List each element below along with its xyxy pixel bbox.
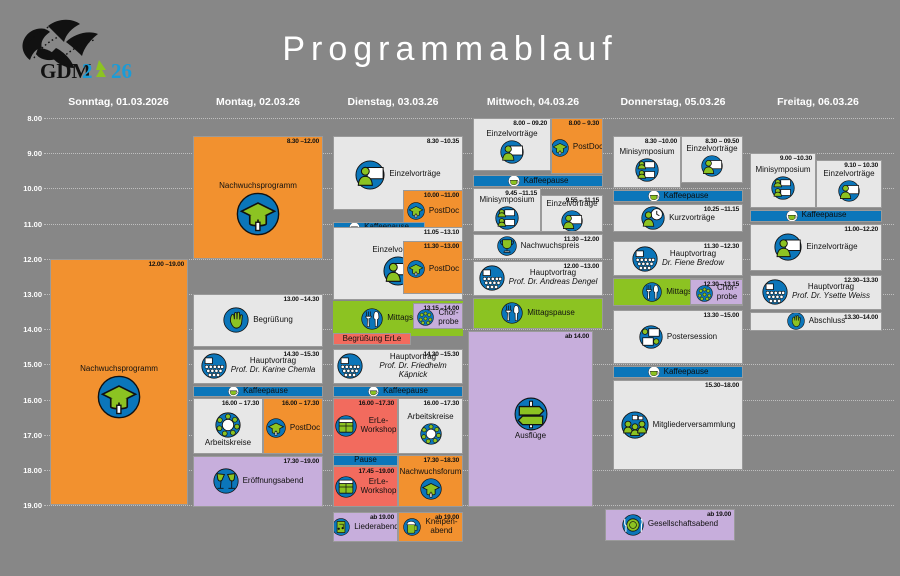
roundtable-icon <box>420 423 442 445</box>
session-label-box: Kneipen-abend <box>425 518 457 536</box>
session-label: Postersession <box>667 333 717 342</box>
session-block-mon-begruessung[interactable]: 13.00 –14.30 Begrüßung <box>193 294 323 347</box>
session-block-thu-mitglieder[interactable]: 15.30–18.00 Mitgliederversammlung <box>613 380 743 470</box>
session-label-box: ErLe-Workshop <box>361 478 397 496</box>
session-label-box: Nachwuchsprogramm <box>219 182 297 191</box>
session-label: Pause <box>354 456 377 465</box>
session-label-line2: probe <box>438 318 458 327</box>
session-content: Nachwuchsforum <box>399 456 462 506</box>
session-content: Kaffeepause <box>614 367 742 377</box>
beer-icon <box>403 518 421 536</box>
session-label-box: PostDoc <box>290 424 320 433</box>
session-label: Minisymposium <box>619 148 674 157</box>
choir-icon <box>417 309 434 326</box>
session-block-mon-ak[interactable]: 16.00 – 17.30 Arbeitskreise <box>193 398 263 454</box>
minisymposium-icon <box>771 176 795 200</box>
session-content: PostDoc <box>264 399 322 453</box>
audience-icon <box>762 279 788 305</box>
session-label: Minisymposium <box>479 196 534 205</box>
graduation-cap-icon <box>407 202 425 220</box>
session-label-box: Einzelvorträge <box>686 145 737 154</box>
session-label-box: Kurzvorträge <box>669 214 715 223</box>
session-label-box: ErLe-Workshop <box>361 417 397 435</box>
session-label: Eröffnungsabend <box>243 477 304 486</box>
session-content: Kaffeepause <box>194 387 322 396</box>
audience-icon <box>337 353 363 379</box>
session-block-tue-lieder[interactable]: ab 19.00 Liederabend <box>333 512 398 542</box>
session-label-box: Einzelvorträge <box>546 200 597 209</box>
session-label-box: Einzelvorträge <box>823 170 874 179</box>
session-label-box: Postersession <box>667 333 717 342</box>
session-label-box: Kaffeepause <box>243 387 288 396</box>
dinner-plate-icon <box>622 514 644 536</box>
roundtable-icon <box>215 412 241 438</box>
graduation-cap-icon <box>97 375 141 419</box>
speaker-screen-icon <box>561 210 583 232</box>
session-label-box: Kaffeepause <box>383 387 428 396</box>
session-label-box: Minisymposium <box>479 196 534 205</box>
speaker-screen-icon <box>355 160 385 190</box>
speaker-screen-icon <box>838 180 860 202</box>
graduation-cap-icon <box>236 192 280 236</box>
speaker-screen-icon <box>774 233 802 261</box>
session-label: Einzelvorträge <box>806 243 857 252</box>
session-block-fri-einzel1[interactable]: 9.10 – 10.30Einzelvorträge <box>816 160 882 208</box>
coffee-cup-icon <box>786 210 798 222</box>
session-label: Kaffeepause <box>243 387 288 396</box>
day-header-3: Dienstag, 03.03.26 <box>323 96 463 108</box>
coffee-cup-icon <box>786 210 798 222</box>
session-block-thu-haupt[interactable]: 11.30 –12.30 HauptvortragDr. Fiene Bredo… <box>613 241 743 276</box>
audience-icon <box>201 353 227 379</box>
session-block-mon-postdoc[interactable]: 16.00 – 17.30 PostDoc <box>263 398 323 454</box>
poster-icon <box>639 325 663 349</box>
session-label: Gesellschaftsabend <box>648 520 718 529</box>
assembly-icon <box>621 411 649 439</box>
session-label-box: Ausflüge <box>515 432 546 441</box>
time-label-19-00: 19.00 <box>8 501 42 510</box>
audience-icon <box>632 246 658 272</box>
coffee-cup-icon <box>648 190 660 202</box>
session-content: Chor-probe <box>691 280 742 303</box>
coffee-cup-icon <box>648 366 660 378</box>
cutlery-icon <box>361 308 383 330</box>
session-label: Einzelvorträge <box>823 170 874 179</box>
minisymposium-icon <box>635 158 659 182</box>
day-header-4: Mittwoch, 04.03.26 <box>463 96 603 108</box>
session-label: Kaffeepause <box>524 177 569 186</box>
dinner-plate-icon <box>622 514 644 536</box>
session-label-box: Abschluss <box>809 317 845 326</box>
clock-person-icon <box>641 206 665 230</box>
audience-icon <box>201 353 227 379</box>
session-speaker: Prof. Dr. Karine Chemla <box>231 366 316 375</box>
session-label: Einzelvorträge <box>486 130 537 139</box>
speaker-screen-icon <box>701 155 723 177</box>
session-label-box: Nachwuchspreis <box>521 242 580 251</box>
session-label: Kaffeepause <box>383 387 428 396</box>
session-label-box: HauptvortragProf. Dr. Andreas Dengel <box>509 269 598 287</box>
choir-icon <box>417 309 434 326</box>
session-content: Kaffeepause <box>614 191 742 201</box>
signpost-icon <box>514 397 548 431</box>
choir-icon <box>696 285 713 302</box>
poster-icon <box>639 325 663 349</box>
roundtable-icon <box>215 412 241 438</box>
session-block-mon-nachwuchs[interactable]: 8.30 –12.00Nachwuchsprogramm <box>193 136 323 259</box>
session-content: HauptvortragDr. Fiene Bredow <box>614 242 742 275</box>
day-header-1: Sonntag, 01.03.2026 <box>44 96 193 108</box>
session-block-tue-haupt[interactable]: 14.30 –15.30 HauptvortragProf. Dr. Fried… <box>333 349 463 384</box>
session-label: Nachwuchsprogramm <box>80 365 158 374</box>
minisymposium-icon <box>771 176 795 200</box>
session-content: Einzelvorträge <box>542 196 602 231</box>
time-label-12-00: 12.00 <box>8 255 42 264</box>
session-content: Minisymposium <box>614 137 680 188</box>
cutlery-icon <box>501 302 523 324</box>
session-label-box: Einzelvorträge <box>486 130 537 139</box>
time-label-9-00: 9.00 <box>8 149 42 158</box>
time-label-18-00: 18.00 <box>8 466 42 475</box>
time-label-17-00: 17.00 <box>8 431 42 440</box>
workshop-icon <box>335 476 357 498</box>
speaker-screen-icon <box>355 160 385 190</box>
audience-icon <box>479 265 505 291</box>
session-content: Einzelvorträge <box>817 161 881 207</box>
coffee-cup-icon <box>368 386 379 397</box>
session-block-mon-kaffee[interactable]: Kaffeepause <box>193 386 323 397</box>
session-content: Minisymposium <box>474 189 540 232</box>
session-label: Einzelvorträge <box>686 145 737 154</box>
session-block-tue-postdoc2[interactable]: 11.30 –13.00 PostDoc <box>403 241 463 294</box>
songbook-icon <box>333 518 350 536</box>
session-speaker: Prof. Dr. Ysette Weiss <box>792 292 870 301</box>
session-block-wed-haupt[interactable]: 12.00 –13.00 HauptvortragProf. Dr. Andre… <box>473 261 603 296</box>
session-label: PostDoc <box>573 143 603 152</box>
time-label-10-00: 10.00 <box>8 184 42 193</box>
session-block-thu-mini[interactable]: 8.30 –10.00Minisymposium <box>613 136 681 189</box>
graduation-cap-icon <box>551 139 569 157</box>
session-label-box: Chor-probe <box>438 309 458 327</box>
session-block-wed-einzel1[interactable]: 8.00 – 09.20Einzelvorträge <box>473 118 551 171</box>
coffee-cup-icon <box>368 386 379 397</box>
assembly-icon <box>621 411 649 439</box>
audience-icon <box>337 353 363 379</box>
trophy-icon <box>497 236 517 256</box>
session-label-box: Kaffeepause <box>664 368 709 377</box>
signpost-icon <box>514 397 548 431</box>
time-label-8-00: 8.00 <box>8 114 42 123</box>
session-label-line2: probe <box>717 293 737 302</box>
session-speaker: Prof. Dr. Andreas Dengel <box>509 278 598 287</box>
session-label-box: Mittagspause <box>527 309 575 318</box>
session-content: Kneipen-abend <box>399 513 462 541</box>
session-content: Liederabend <box>334 513 397 541</box>
session-label: Einzelvorträge <box>389 170 440 179</box>
graduation-cap-icon <box>236 192 280 236</box>
cutlery-icon <box>642 282 662 302</box>
session-content: Nachwuchspreis <box>474 235 602 258</box>
coffee-cup-icon <box>508 175 520 187</box>
songbook-icon <box>333 518 350 536</box>
session-content: Minisymposium <box>751 154 815 207</box>
session-label: Minisymposium <box>755 166 810 175</box>
session-content: Arbeitskreise <box>194 399 262 453</box>
session-content: HauptvortragProf. Dr. Friedhelm Käpnick <box>334 350 462 383</box>
session-block-mon-eroeffnung[interactable]: 17.30 –19.00 Eröffnungsabend <box>193 456 323 507</box>
session-label: Begrüßung ErLe <box>343 335 402 344</box>
session-block-fri-kaffee[interactable]: Kaffeepause <box>750 210 882 222</box>
graduation-cap-icon <box>420 478 442 500</box>
time-label-14-00: 14.00 <box>8 325 42 334</box>
session-label: Abschluss <box>809 317 845 326</box>
session-label: Kaffeepause <box>802 211 847 220</box>
session-block-tue-kaffee2[interactable]: Kaffeepause <box>333 386 463 397</box>
waving-hand-icon <box>223 307 249 333</box>
session-content: ErLe-Workshop <box>334 467 397 505</box>
session-label-box: Nachwuchsprogramm <box>80 365 158 374</box>
clock-person-icon <box>641 206 665 230</box>
session-label-box: HauptvortragProf. Dr. Ysette Weiss <box>792 283 870 301</box>
coffee-cup-icon <box>228 386 239 397</box>
session-label: PostDoc <box>429 265 459 274</box>
session-block-tue-pause[interactable]: Pause <box>333 455 398 466</box>
session-label: Begrüßung <box>253 316 293 325</box>
session-label-box: Arbeitskreise <box>407 413 453 422</box>
session-label: Nachwuchsforum <box>400 468 462 477</box>
session-content: Postersession <box>614 311 742 364</box>
session-content: Abschluss <box>751 313 881 330</box>
session-block-fri-abschluss[interactable]: 13.30–14.00 Abschluss <box>750 312 882 331</box>
coffee-cup-icon <box>648 366 660 378</box>
coffee-cup-icon <box>228 386 239 397</box>
session-block-wed-mini[interactable]: 9.45 –11.15Minisymposium <box>473 188 541 233</box>
graduation-cap-icon <box>420 478 442 500</box>
session-block-tue-erlews2[interactable]: 17.45 –19.00 ErLe-Workshop <box>333 466 398 506</box>
schedule-grid: 8.009.0010.0011.0012.0013.0014.0015.0016… <box>0 112 900 532</box>
session-block-wed-preis[interactable]: 11.30 –12.00 Nachwuchspreis <box>473 234 603 259</box>
day-header-6: Freitag, 06.03.26 <box>743 96 893 108</box>
session-content: Kaffeepause <box>334 387 462 396</box>
day-header-5: Donnerstag, 05.03.26 <box>603 96 743 108</box>
session-content: Nachwuchsprogramm <box>194 137 322 258</box>
time-label-13-00: 13.00 <box>8 290 42 299</box>
session-content: Kaffeepause <box>751 211 881 221</box>
session-content: Einzelvorträge <box>682 137 742 183</box>
session-content: PostDoc <box>404 242 462 293</box>
session-block-fri-haupt[interactable]: 12.30–13.30 HauptvortragProf. Dr. Ysette… <box>750 275 882 310</box>
session-block-sun-nachwuchs[interactable]: 12.00 –19.00Nachwuchsprogramm <box>50 259 188 505</box>
session-label-box: Begrüßung ErLe <box>343 335 402 344</box>
graduation-cap-icon <box>266 418 286 438</box>
waving-hand-icon <box>787 312 805 330</box>
session-label-line2: abend <box>425 527 457 536</box>
time-label-16-00: 16.00 <box>8 396 42 405</box>
waving-hand-icon <box>223 307 249 333</box>
session-label-box: HauptvortragDr. Fiene Bredow <box>662 250 724 268</box>
session-label-box: Pause <box>354 456 377 465</box>
session-content: Eröffnungsabend <box>194 457 322 506</box>
session-content: Mittagspause <box>474 299 602 329</box>
choir-icon <box>696 285 713 302</box>
session-content: ErLe-Workshop <box>334 399 397 453</box>
session-content: Chor-probe <box>414 304 462 328</box>
time-label-15-00: 15.00 <box>8 360 42 369</box>
graduation-cap-icon <box>407 260 425 278</box>
session-block-fri-einzel2[interactable]: 11.00–12.20 Einzelvorträge <box>750 224 882 272</box>
session-block-wed-einzel2[interactable]: 9.55 – 11.15Einzelvorträge <box>541 195 603 232</box>
beer-icon <box>403 518 421 536</box>
session-label: Nachwuchspreis <box>521 242 580 251</box>
session-label: Ausflüge <box>515 432 546 441</box>
roundtable-icon <box>420 423 442 445</box>
session-content: Kaffeepause <box>474 176 602 186</box>
session-content: Begrüßung <box>194 295 322 346</box>
session-label: PostDoc <box>290 424 320 433</box>
session-block-thu-poster[interactable]: 13.30 –15.00 Postersession <box>613 310 743 365</box>
page-title: Programmablauf <box>0 30 900 69</box>
session-block-thu-kurz[interactable]: 10.25 –11.15 Kurzvorträge <box>613 204 743 232</box>
trophy-icon <box>497 236 517 256</box>
workshop-icon <box>335 476 357 498</box>
session-content: Nachwuchsprogramm <box>51 260 187 504</box>
session-block-mon-haupt[interactable]: 14.30 –15.30 HauptvortragProf. Dr. Karin… <box>193 349 323 384</box>
session-label: Mitgliederversammlung <box>653 421 736 430</box>
session-label-box: Einzelvorträge <box>806 243 857 252</box>
minisymposium-icon <box>495 206 519 230</box>
session-block-thu-gesellschaft[interactable]: ab 19.00 Gesellschaftsabend <box>605 509 735 541</box>
speaker-screen-icon <box>500 140 524 164</box>
session-label-box: Einzelvorträge <box>389 170 440 179</box>
session-label-box: Kaffeepause <box>524 177 569 186</box>
session-block-thu-kaffee1[interactable]: Kaffeepause <box>613 190 743 202</box>
speaker-screen-icon <box>838 180 860 202</box>
session-label-box: HauptvortragProf. Dr. Karine Chemla <box>231 357 316 375</box>
session-label-box: Arbeitskreise <box>205 439 251 448</box>
session-label: Kurzvorträge <box>669 214 715 223</box>
session-label: Arbeitskreise <box>205 439 251 448</box>
session-label: Kaffeepause <box>664 192 709 201</box>
session-label-box: Minisymposium <box>619 148 674 157</box>
cutlery-icon <box>361 308 383 330</box>
graduation-cap-icon <box>407 260 425 278</box>
workshop-icon <box>335 415 357 437</box>
graduation-cap-icon <box>266 418 286 438</box>
coffee-cup-icon <box>648 190 660 202</box>
session-label-box: PostDoc <box>429 265 459 274</box>
session-label: PostDoc <box>429 207 459 216</box>
session-speaker: Prof. Dr. Friedhelm Käpnick <box>367 362 459 380</box>
session-content: Gesellschaftsabend <box>606 510 734 540</box>
session-content: Arbeitskreise <box>399 399 462 453</box>
session-content: Einzelvorträge <box>474 119 550 170</box>
session-block-wed-mittag[interactable]: Mittagspause <box>473 298 603 330</box>
waving-hand-icon <box>787 312 805 330</box>
graduation-cap-icon <box>97 375 141 419</box>
session-content: HauptvortragProf. Dr. Karine Chemla <box>194 350 322 383</box>
session-label-box: PostDoc <box>429 207 459 216</box>
day-header-row: Sonntag, 01.03.2026Montag, 02.03.26Diens… <box>0 96 900 112</box>
session-label-box: Liederabend <box>354 523 398 532</box>
session-label: Kaffeepause <box>664 368 709 377</box>
session-block-thu-chor[interactable]: 12.30 –13.15 Chor-probe <box>690 279 743 304</box>
session-label-box: HauptvortragProf. Dr. Friedhelm Käpnick <box>367 353 459 380</box>
speaker-screen-icon <box>701 155 723 177</box>
audience-icon <box>632 246 658 272</box>
session-content: HauptvortragProf. Dr. Andreas Dengel <box>474 262 602 295</box>
graduation-cap-icon <box>407 202 425 220</box>
session-label-box: Begrüßung <box>253 316 293 325</box>
session-content: HauptvortragProf. Dr. Ysette Weiss <box>751 276 881 309</box>
session-label-box: Minisymposium <box>755 166 810 175</box>
time-label-11-00: 11.00 <box>8 220 42 229</box>
session-block-tue-nachwuchsforum[interactable]: 17.30 –18.30Nachwuchsforum <box>398 455 463 507</box>
graduation-cap-icon <box>551 139 569 157</box>
session-label: Arbeitskreise <box>407 413 453 422</box>
session-label: Liederabend <box>354 523 398 532</box>
session-block-wed-postdoc[interactable]: 8.00 – 9.30 PostDoc <box>551 118 603 174</box>
day-header-2: Montag, 02.03.26 <box>193 96 323 108</box>
session-content: Kurzvorträge <box>614 205 742 231</box>
session-label-box: Chor-probe <box>717 284 737 302</box>
session-label: Einzelvorträge <box>546 200 597 209</box>
session-block-tue-chor[interactable]: 13.15 –14.00 Chor-probe <box>413 303 463 329</box>
session-label-box: Gesellschaftsabend <box>648 520 718 529</box>
session-label-box: Mitgliederversammlung <box>653 421 736 430</box>
cutlery-icon <box>501 302 523 324</box>
session-label: Nachwuchsprogramm <box>219 182 297 191</box>
minisymposium-icon <box>635 158 659 182</box>
session-block-tue-erlews1[interactable]: 16.00 –17.30 ErLe-Workshop <box>333 398 398 454</box>
session-label-box: Nachwuchsforum <box>400 468 462 477</box>
session-block-wed-kaffee[interactable]: Kaffeepause <box>473 175 603 187</box>
workshop-icon <box>335 415 357 437</box>
session-content: Pause <box>334 456 397 465</box>
cheers-glasses-icon <box>213 468 239 494</box>
session-label: Mittagspause <box>527 309 575 318</box>
speaker-screen-icon <box>774 233 802 261</box>
speaker-screen-icon <box>500 140 524 164</box>
session-content: Einzelvorträge <box>751 225 881 271</box>
session-block-tue-erle[interactable]: Begrüßung ErLe <box>333 333 411 345</box>
session-label-line2: Workshop <box>361 487 397 496</box>
minisymposium-icon <box>495 206 519 230</box>
session-content: Mitgliederversammlung <box>614 381 742 469</box>
session-content: Ausflüge <box>469 332 592 506</box>
session-content: Begrüßung ErLe <box>334 334 410 344</box>
session-label-box: Eröffnungsabend <box>243 477 304 486</box>
session-content: PostDoc <box>552 119 602 173</box>
session-label-box: Kaffeepause <box>664 192 709 201</box>
audience-icon <box>479 265 505 291</box>
audience-icon <box>762 279 788 305</box>
session-block-tue-ak[interactable]: 16.00 –17.30Arbeitskreise <box>398 398 463 454</box>
coffee-cup-icon <box>508 175 520 187</box>
session-block-tue-kneipen[interactable]: ab 19.00 Kneipen-abend <box>398 512 463 542</box>
cutlery-icon <box>642 282 662 302</box>
session-label-line2: Workshop <box>361 426 397 435</box>
session-speaker: Dr. Fiene Bredow <box>662 259 724 268</box>
grid-hour-line <box>44 118 894 119</box>
session-block-thu-kaffee2[interactable]: Kaffeepause <box>613 366 743 378</box>
session-label-box: Kaffeepause <box>802 211 847 220</box>
session-block-fri-mini[interactable]: 9.00 –10.30Minisymposium <box>750 153 816 208</box>
session-block-wed-ausfluege[interactable]: ab 14.00 Ausflüge <box>468 331 593 507</box>
cheers-glasses-icon <box>213 468 239 494</box>
speaker-screen-icon <box>561 210 583 232</box>
session-block-thu-einzel[interactable]: 8.30 – 09.50Einzelvorträge <box>681 136 743 184</box>
session-label-box: PostDoc <box>573 143 603 152</box>
